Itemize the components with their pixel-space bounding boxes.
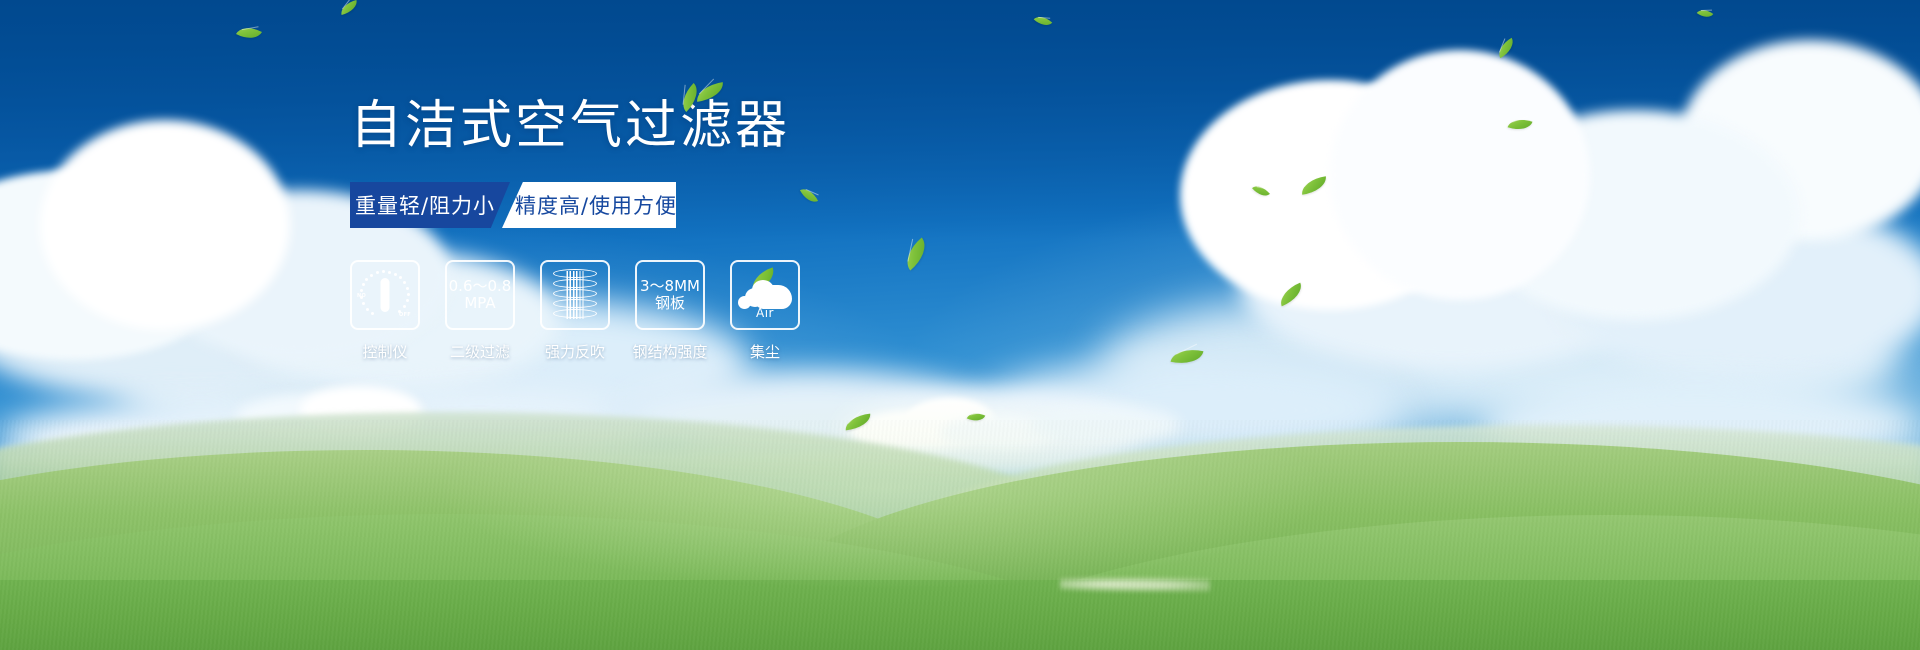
- air-label: Air: [756, 307, 774, 321]
- feature-item-filtration[interactable]: 0.6～0.8 MPA 二级过滤: [445, 260, 515, 362]
- feature-icon-box: NO OFF: [350, 260, 420, 330]
- pressure-range-text: 0.6～0.8: [449, 278, 512, 295]
- grass-texture: [0, 420, 1920, 650]
- feature-list: NO OFF 控制仪 0.6～0.8 MPA 二级过滤: [350, 260, 1050, 362]
- feature-icon-box: [540, 260, 610, 330]
- grass-field: [0, 420, 1920, 650]
- gauge-knob: [381, 278, 390, 312]
- feature-item-dust-collection[interactable]: Air 集尘: [730, 260, 800, 362]
- gauge-label-off: OFF: [399, 313, 411, 319]
- tag-weight-resistance: 重量轻/阻力小: [350, 182, 510, 228]
- hero-banner: 自洁式空气过滤器 重量轻/阻力小 精度高/使用方便: [0, 0, 1920, 650]
- banner-content: 自洁式空气过滤器 重量轻/阻力小 精度高/使用方便: [350, 100, 1050, 362]
- feature-caption: 控制仪: [362, 341, 407, 362]
- leaf-icon: [695, 82, 725, 102]
- steel-material-text: 钢板: [655, 295, 685, 312]
- feature-item-controller[interactable]: NO OFF 控制仪: [350, 260, 420, 362]
- pressure-unit-text: MPA: [464, 295, 495, 312]
- feature-caption: 钢结构强度: [633, 341, 708, 362]
- tag-precision-ease: 精度高/使用方便: [502, 182, 676, 228]
- gauge-label-on: NO: [357, 294, 366, 300]
- cloud-air-icon: Air: [737, 272, 793, 318]
- feature-item-steel-strength[interactable]: 3～8MM 钢板 钢结构强度: [635, 260, 705, 362]
- cloud-part: [738, 296, 751, 309]
- cloud-shape: [1330, 50, 1590, 300]
- stacked-discs-icon: [552, 269, 598, 321]
- feature-caption: 集尘: [750, 341, 780, 362]
- cloud-shape: [40, 120, 290, 330]
- feature-icon-box: Air: [730, 260, 800, 330]
- feature-icon-box: 3～8MM 钢板: [635, 260, 705, 330]
- gauge-switch-icon: NO OFF: [358, 269, 412, 321]
- tagline-row: 重量轻/阻力小 精度高/使用方便: [350, 182, 1050, 228]
- title-leaf-decoration: [677, 78, 737, 118]
- feature-icon-box: 0.6～0.8 MPA: [445, 260, 515, 330]
- feature-caption: 二级过滤: [450, 341, 510, 362]
- steel-thickness-text: 3～8MM: [640, 278, 700, 295]
- feature-caption: 强力反吹: [545, 341, 605, 362]
- feature-item-blowback[interactable]: 强力反吹: [540, 260, 610, 362]
